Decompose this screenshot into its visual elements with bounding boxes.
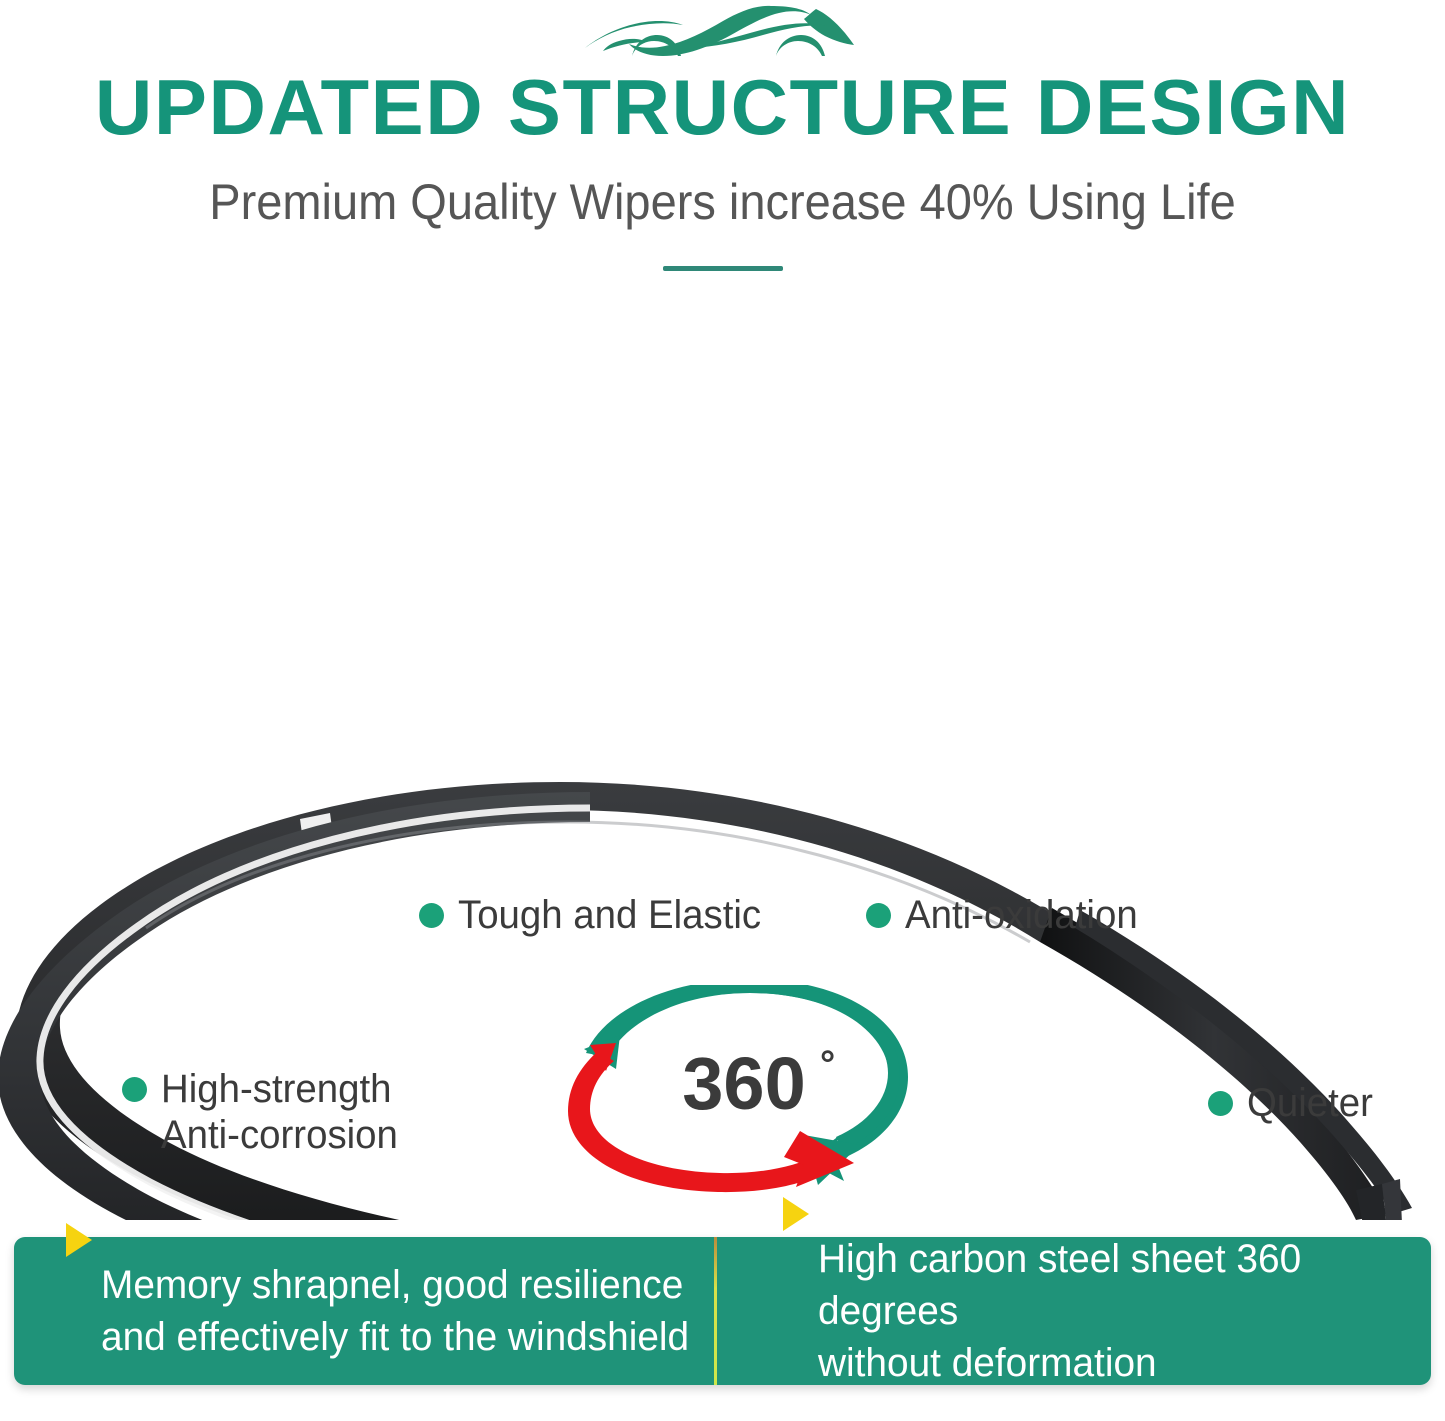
triangle-right-icon <box>66 1223 92 1257</box>
banner-left-line2: and effectively fit to the windshield <box>101 1311 689 1363</box>
callout-label-line1: High-strength <box>161 1066 398 1112</box>
callout-label: Quieter <box>1247 1080 1373 1126</box>
badge-value: 360 <box>682 1042 805 1125</box>
bullet-dot-icon <box>122 1077 147 1102</box>
callout-high-strength-anti-corrosion: High-strength Anti-corrosion <box>122 1066 408 1158</box>
bullet-dot-icon <box>1208 1091 1233 1116</box>
badge-degree-symbol: ° <box>820 1044 835 1086</box>
page-subtitle: Premium Quality Wipers increase 40% Usin… <box>43 172 1401 232</box>
banner-left-line1: Memory shrapnel, good resilience <box>101 1259 689 1311</box>
bullet-dot-icon <box>866 903 891 928</box>
bullet-dot-icon <box>419 903 444 928</box>
page-title: UPDATED STRUCTURE DESIGN <box>0 64 1445 150</box>
callout-label-line2: Anti-corrosion <box>161 1112 398 1158</box>
callout-label: Tough and Elastic <box>458 892 761 938</box>
banner-cell-left: Memory shrapnel, good resilience and eff… <box>14 1237 714 1385</box>
triangle-right-icon <box>783 1197 809 1231</box>
banner-right-line2: without deformation <box>818 1337 1413 1389</box>
callout-anti-oxidation: Anti-oxidation <box>866 892 1147 938</box>
title-divider <box>663 266 783 271</box>
product-feature-infographic: UPDATED STRUCTURE DESIGN Premium Quality… <box>0 0 1445 1421</box>
360-degree-badge-icon: 360 ° <box>568 985 928 1200</box>
callout-tough-and-elastic: Tough and Elastic <box>419 892 774 938</box>
banner-cell-right: High carbon steel sheet 360 degrees with… <box>717 1237 1431 1385</box>
feature-banner: Memory shrapnel, good resilience and eff… <box>14 1237 1431 1385</box>
callout-quieter: Quieter <box>1208 1080 1378 1126</box>
product-image-area: 360 ° Tough and Elastic Anti-oxidation H… <box>0 330 1445 1220</box>
callout-label: Anti-oxidation <box>905 892 1138 938</box>
sports-car-silhouette-icon <box>573 4 873 66</box>
banner-right-line1: High carbon steel sheet 360 degrees <box>818 1233 1413 1337</box>
